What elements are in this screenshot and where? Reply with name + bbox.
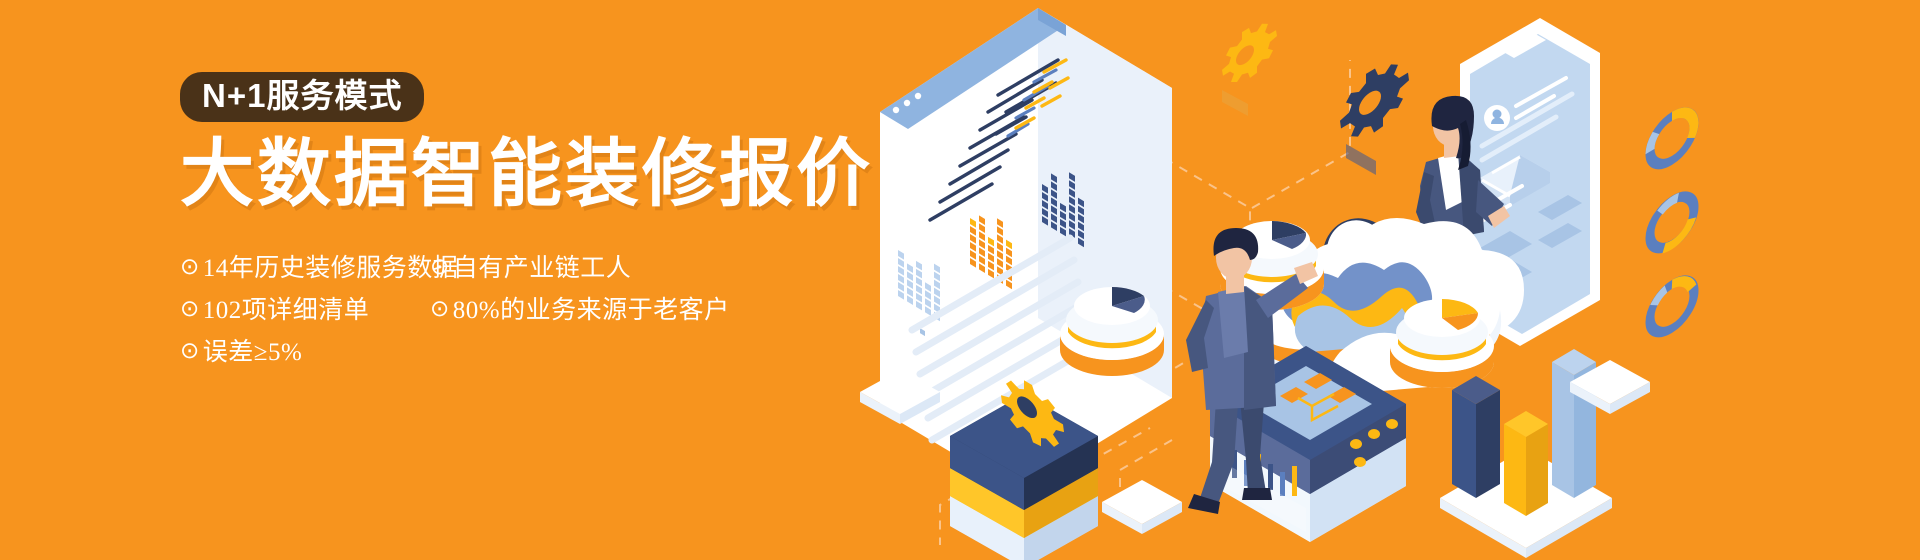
circled-dot-icon: ⊙ <box>180 255 200 278</box>
list-item: ⊙ 14年历史装修服务数据 <box>180 248 430 284</box>
gear-navy <box>1340 48 1409 175</box>
list-item-label: 80%的业务来源于老客户 <box>453 290 730 326</box>
text-block: N+1服务模式 大数据智能装修报价 ⊙ 14年历史装修服务数据 ⊙ 102项详细… <box>180 72 880 371</box>
list-item: ⊙ 自有产业链工人 <box>430 248 760 284</box>
page-title: 大数据智能装修报价 <box>180 136 880 211</box>
progress-ring-3 <box>1650 271 1694 341</box>
service-model-badge: N+1服务模式 <box>180 72 424 122</box>
circled-dot-icon: ⊙ <box>180 297 200 320</box>
list-item: ⊙ 102项详细清单 <box>180 290 430 326</box>
list-item: ⊙ 误差≥5% <box>180 332 430 368</box>
progress-ring-2 <box>1650 187 1694 258</box>
circled-dot-icon: ⊙ <box>180 339 200 362</box>
circled-dot-icon: ⊙ <box>430 255 450 278</box>
list-item-label: 14年历史装修服务数据 <box>203 248 459 284</box>
progress-ring-1 <box>1650 103 1694 173</box>
list-item-label: 误差≥5% <box>203 332 303 368</box>
feature-list: ⊙ 14年历史装修服务数据 ⊙ 102项详细清单 ⊙ 误差≥5% ⊙ 自有产业链… <box>180 245 880 371</box>
promo-banner: N+1服务模式 大数据智能装修报价 ⊙ 14年历史装修服务数据 ⊙ 102项详细… <box>0 0 1920 560</box>
list-item: ⊙ 80%的业务来源于老客户 <box>430 290 760 326</box>
gear-yellow <box>1222 11 1277 116</box>
list-item-label: 102项详细清单 <box>203 290 370 326</box>
list-item-label: 自有产业链工人 <box>453 248 632 284</box>
floating-tile-2 <box>1102 480 1182 534</box>
circled-dot-icon: ⊙ <box>430 297 450 320</box>
isometric-big-data-scene <box>820 0 1920 560</box>
